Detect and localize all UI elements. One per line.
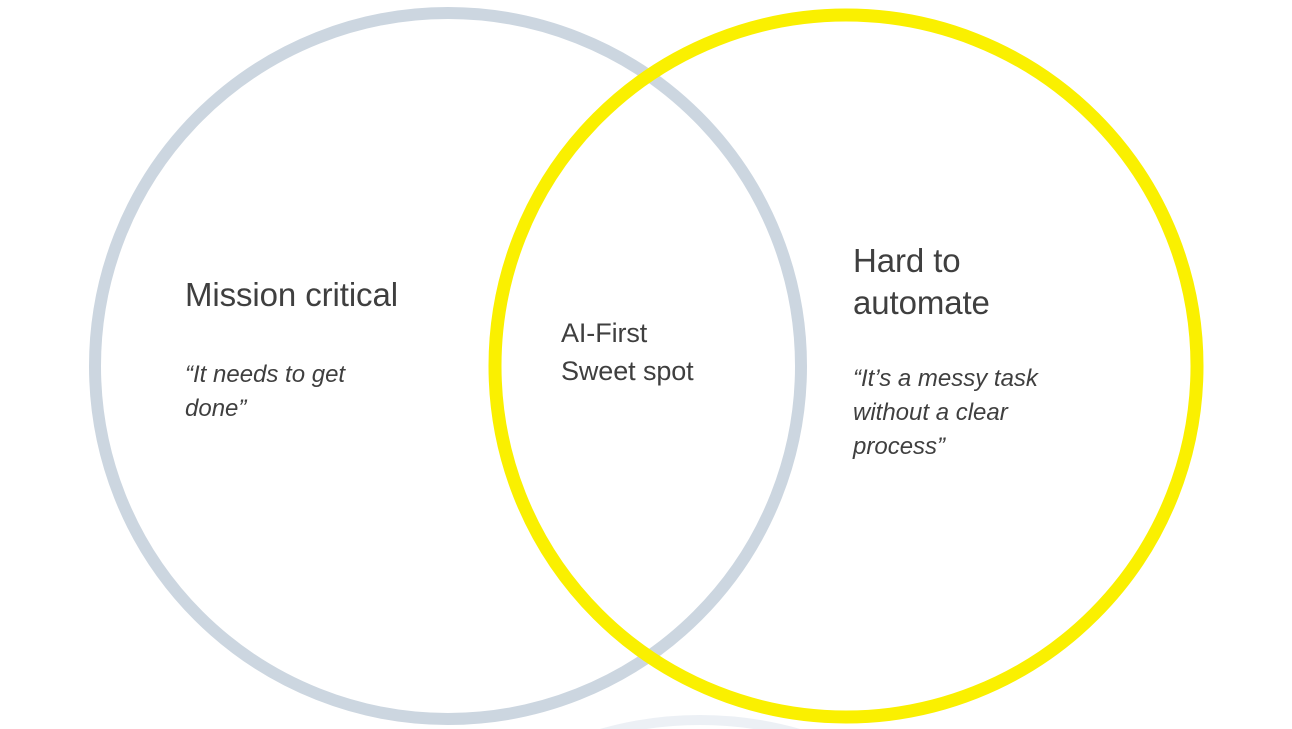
- mission-critical-heading: Mission critical: [185, 275, 485, 315]
- intersection-text-group: AI-First Sweet spot: [561, 314, 771, 390]
- hard-to-automate-heading: Hard to automate: [853, 240, 1113, 324]
- left-lobe-text-group: Mission critical “It needs to get done”: [185, 275, 485, 426]
- mission-critical-quote: “It needs to get done”: [185, 358, 410, 426]
- venn-diagram-slide: Mission critical “It needs to get done” …: [0, 0, 1292, 729]
- hard-to-automate-quote: “It’s a messy task without a clear proce…: [853, 362, 1093, 464]
- ai-first-sweet-spot-heading: AI-First Sweet spot: [561, 314, 771, 390]
- right-lobe-text-group: Hard to automate “It’s a messy task with…: [853, 240, 1113, 464]
